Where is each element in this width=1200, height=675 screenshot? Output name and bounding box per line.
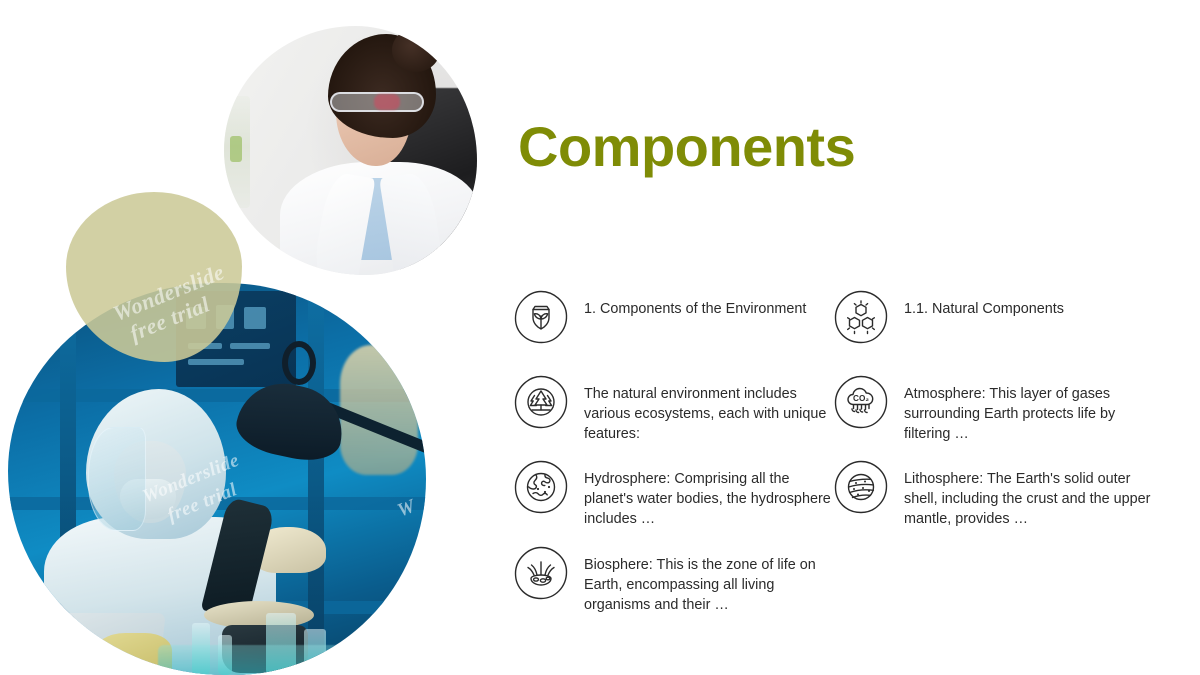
forest-trees-icon [512,373,570,431]
list-item[interactable]: Biosphere: This is the zone of life on E… [512,548,836,615]
photo-bottom-face-shield [88,427,146,531]
list-item-text: Lithosphere: The Earth's solid outer she… [904,462,1156,529]
list-item[interactable]: Lithosphere: The Earth's solid outer she… [832,462,1156,529]
list-item-text: Atmosphere: This layer of gases surround… [904,377,1156,444]
list-item[interactable]: 1. Components of the Environment [512,292,806,346]
photo-bottom-bottle [340,345,418,475]
water-globe-icon [512,458,570,516]
co2-cloud-icon: CO₂ [832,373,890,431]
list-item-text: The natural environment includes various… [584,377,836,444]
list-item-text: 1. Components of the Environment [584,292,806,319]
layered-earth-icon [832,458,890,516]
photo-bottom-beaker [218,635,232,675]
photo-bottom-lamp-joint [282,341,316,385]
photo-top-hair-bun [392,28,440,72]
photo-bottom-scientist-microscope [8,283,426,675]
photo-bottom-vial-rack [158,645,358,675]
photo-top-green-detail [230,136,242,162]
list-item-text: 1.1. Natural Components [904,292,1064,319]
photo-top-goggle-highlight [374,94,400,110]
molecule-icon [832,288,890,346]
list-item[interactable]: The natural environment includes various… [512,377,836,444]
list-item-text: Biosphere: This is the zone of life on E… [584,548,836,615]
photo-bottom-beaker [304,629,326,675]
list-item[interactable]: Hydrosphere: Comprising all the planet's… [512,462,836,529]
svg-text:CO₂: CO₂ [853,394,869,403]
list-item[interactable]: 1.1. Natural Components [832,292,1064,346]
visual-area: Wonderslide free trial Wonderslide Wonde… [0,0,500,675]
sprout-soil-icon [512,544,570,602]
list-item[interactable]: CO₂ Atmosphere: This layer of gases surr… [832,377,1156,444]
shield-leaf-icon [512,288,570,346]
list-item-text: Hydrosphere: Comprising all the planet's… [584,462,836,529]
photo-bottom-beaker [266,613,296,675]
photo-top-scientist-goggles: Wonderslide free trial Wonderslide Wonde… [224,26,477,275]
page-title: Components [518,116,855,178]
slide-canvas: Wonderslide free trial Wonderslide Wonde… [0,0,1200,675]
photo-bottom-beaker [192,623,210,675]
